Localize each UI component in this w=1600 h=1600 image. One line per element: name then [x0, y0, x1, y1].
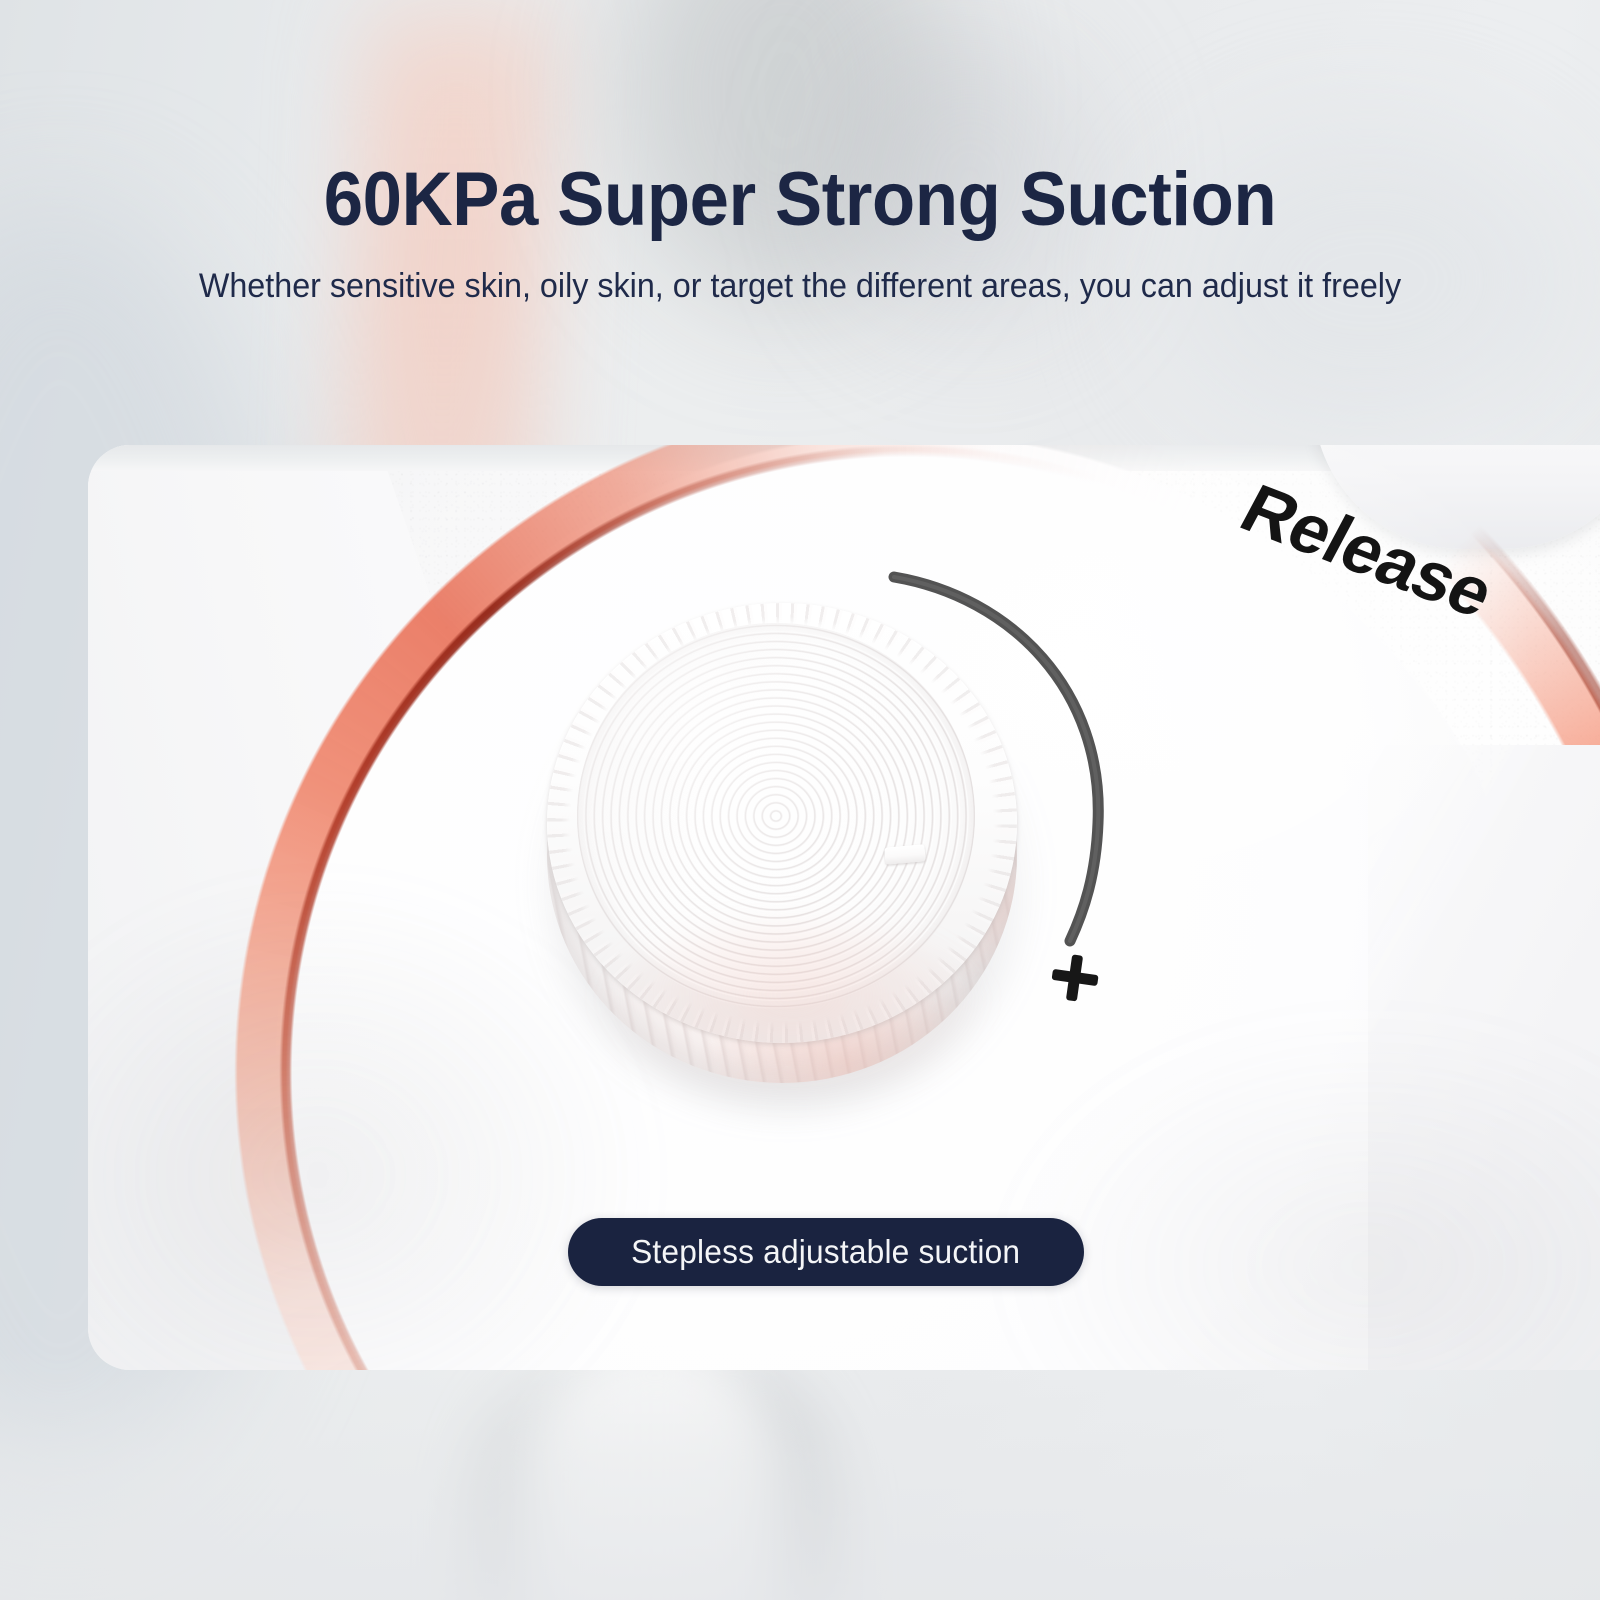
plus-mark-icon — [1049, 952, 1101, 1004]
page-title: 60KPa Super Strong Suction — [56, 160, 1544, 240]
knob-bottom-glow — [593, 923, 993, 1103]
suction-adjust-knob[interactable] — [533, 593, 1031, 1113]
status-badge: Stepless adjustable suction — [568, 1218, 1084, 1286]
status-badge-label: Stepless adjustable suction — [631, 1233, 1020, 1271]
device-shadow-right — [988, 1005, 1600, 1370]
page-subtitle: Whether sensitive skin, oily skin, or ta… — [40, 266, 1560, 307]
product-feature-slide: 60KPa Super Strong Suction Whether sensi… — [0, 0, 1600, 1600]
background-bottom-wash — [0, 1350, 1600, 1600]
header-block: 60KPa Super Strong Suction Whether sensi… — [0, 160, 1600, 307]
knob-position-tick — [884, 844, 925, 864]
